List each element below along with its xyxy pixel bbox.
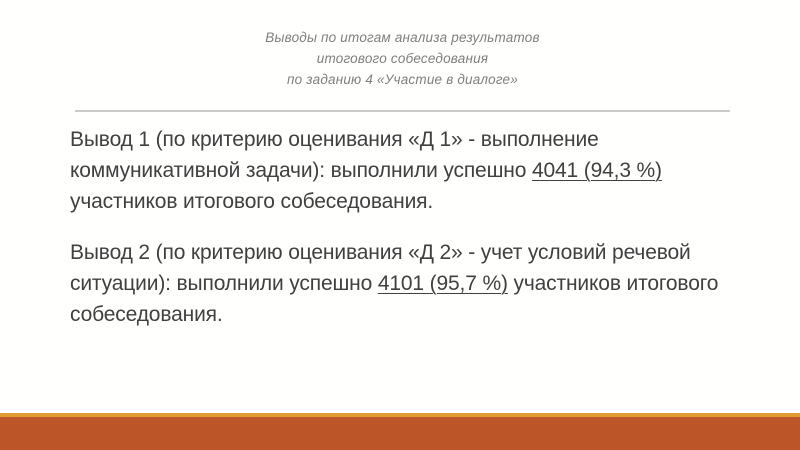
title-line-2: итогового собеседования <box>75 48 730 69</box>
slide-title: Выводы по итогам анализа результатов ито… <box>75 27 730 90</box>
slide-body: Вывод 1 (по критерию оценивания «Д 1» - … <box>70 124 742 330</box>
conclusion-1-tail: участников итогового собеседования. <box>70 190 433 213</box>
conclusion-2-figure: 4101 (95,7 %) <box>378 272 508 295</box>
conclusion-paragraph-1: Вывод 1 (по критерию оценивания «Д 1» - … <box>70 124 742 217</box>
title-divider <box>75 110 730 112</box>
conclusion-1-figure: 4041 (94,3 %) <box>532 159 662 182</box>
footer-accent-bar-rust <box>0 417 800 450</box>
slide: Выводы по итогам анализа результатов ито… <box>0 0 800 450</box>
conclusion-1-lead: Вывод 1 (по критерию оценивания «Д 1» - … <box>70 128 599 182</box>
conclusion-paragraph-2: Вывод 2 (по критерию оценивания «Д 2» - … <box>70 237 742 330</box>
title-line-1: Выводы по итогам анализа результатов <box>75 27 730 48</box>
title-line-3: по заданию 4 «Участие в диалоге» <box>75 69 730 90</box>
